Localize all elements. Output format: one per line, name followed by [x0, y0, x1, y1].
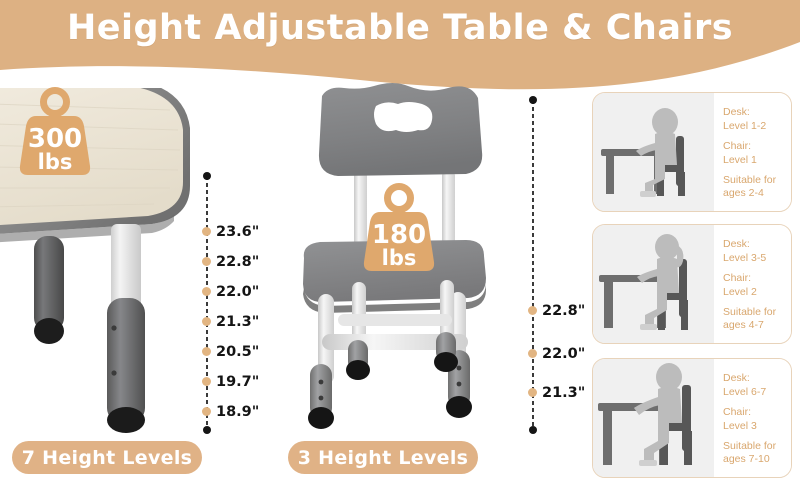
- ages-label: Suitable for: [723, 440, 785, 453]
- tick-label: 18.9": [216, 404, 259, 420]
- chair-weight-badge: 180 lbs: [360, 182, 438, 274]
- scale-axis-line: [206, 176, 208, 430]
- chair-label: Chair:: [723, 140, 785, 153]
- tick-dot: [528, 349, 537, 358]
- height-tick: 22.8": [528, 306, 537, 315]
- child-at-desk-icon: [593, 93, 714, 211]
- tick-label: 22.8": [216, 254, 259, 270]
- chair-value: Level 1: [723, 154, 785, 167]
- desk-value: Level 3-5: [723, 252, 785, 265]
- tick-dot: [202, 257, 211, 266]
- height-tick: 21.3": [528, 388, 537, 397]
- card-3-text: Desk: Level 6-7 Chair: Level 3 Suitable …: [714, 359, 791, 477]
- recommendation-card-3: Desk: Level 6-7 Chair: Level 3 Suitable …: [592, 358, 792, 478]
- tick-label: 22.0": [216, 284, 259, 300]
- desk-label: Desk:: [723, 106, 785, 119]
- chair-value: Level 3: [723, 420, 785, 433]
- infographic-canvas: Height Adjustable Table & Chairs: [0, 0, 800, 494]
- tick-dot: [202, 377, 211, 386]
- card-2-text: Desk: Level 3-5 Chair: Level 2 Suitable …: [714, 225, 791, 343]
- height-tick: 22.0": [202, 287, 211, 296]
- desk-label: Desk:: [723, 238, 785, 251]
- card-1-text: Desk: Level 1-2 Chair: Level 1 Suitable …: [714, 93, 791, 211]
- chair-value: Level 2: [723, 286, 785, 299]
- chair-weight-unit: lbs: [360, 248, 438, 269]
- height-tick: 19.7": [202, 377, 211, 386]
- ages-label: Suitable for: [723, 306, 785, 319]
- tick-label: 19.7": [216, 374, 259, 390]
- ages-value: ages 2-4: [723, 187, 785, 200]
- card-2-ages-group: Suitable for ages 4-7: [723, 306, 785, 333]
- height-tick: 23.6": [202, 227, 211, 236]
- tick-label: 23.6": [216, 224, 259, 240]
- tick-dot: [202, 407, 211, 416]
- tick-dot: [528, 306, 537, 315]
- card-1-illustration: [593, 93, 714, 211]
- scale-axis-line: [532, 100, 534, 430]
- height-tick: 21.3": [202, 317, 211, 326]
- chair-weight-value: 180: [360, 222, 438, 248]
- desk-value: Level 6-7: [723, 386, 785, 399]
- height-tick: 18.9": [202, 407, 211, 416]
- chair-label: Chair:: [723, 272, 785, 285]
- card-3-desk-group: Desk: Level 6-7: [723, 372, 785, 399]
- card-1-desk-group: Desk: Level 1-2: [723, 106, 785, 133]
- tick-dot: [528, 388, 537, 397]
- ages-value: ages 4-7: [723, 319, 785, 332]
- card-3-illustration: [593, 359, 714, 477]
- scale-cap-bottom: [529, 426, 537, 434]
- desk-label: Desk:: [723, 372, 785, 385]
- desk-value: Level 1-2: [723, 120, 785, 133]
- scale-cap-top: [203, 172, 211, 180]
- tick-label: 22.0": [542, 346, 585, 362]
- chair-levels-pill: 3 Height Levels: [288, 441, 478, 474]
- card-3-ages-group: Suitable for ages 7-10: [723, 440, 785, 467]
- tick-label: 20.5": [216, 344, 259, 360]
- ages-label: Suitable for: [723, 174, 785, 187]
- scale-cap-bottom: [203, 426, 211, 434]
- tick-dot: [202, 317, 211, 326]
- card-2-desk-group: Desk: Level 3-5: [723, 238, 785, 265]
- tick-dot: [202, 347, 211, 356]
- card-1-chair-group: Chair: Level 1: [723, 140, 785, 167]
- table-weight-unit: lbs: [16, 152, 94, 173]
- table-weight-value: 300: [16, 126, 94, 152]
- height-tick: 20.5": [202, 347, 211, 356]
- card-3-chair-group: Chair: Level 3: [723, 406, 785, 433]
- table-levels-pill: 7 Height Levels: [12, 441, 202, 474]
- tick-label: 22.8": [542, 303, 585, 319]
- tick-dot: [202, 287, 211, 296]
- child-at-desk-icon: [593, 359, 714, 477]
- chair-product-image: 180 lbs: [282, 82, 532, 432]
- page-title: Height Adjustable Table & Chairs: [0, 8, 800, 48]
- card-1-ages-group: Suitable for ages 2-4: [723, 174, 785, 201]
- card-2-illustration: [593, 225, 714, 343]
- tick-label: 21.3": [216, 314, 259, 330]
- ages-value: ages 7-10: [723, 453, 785, 466]
- recommendation-card-1: Desk: Level 1-2 Chair: Level 1 Suitable …: [592, 92, 792, 212]
- chair-label: Chair:: [723, 406, 785, 419]
- card-2-chair-group: Chair: Level 2: [723, 272, 785, 299]
- height-tick: 22.0": [528, 349, 537, 358]
- recommendation-card-2: Desk: Level 3-5 Chair: Level 2 Suitable …: [592, 224, 792, 344]
- tick-label: 21.3": [542, 385, 585, 401]
- table-product-image: 300 lbs: [0, 88, 209, 433]
- height-tick: 22.8": [202, 257, 211, 266]
- tick-dot: [202, 227, 211, 236]
- child-at-desk-icon: [593, 225, 714, 343]
- scale-cap-top: [529, 96, 537, 104]
- table-weight-badge: 300 lbs: [16, 86, 94, 178]
